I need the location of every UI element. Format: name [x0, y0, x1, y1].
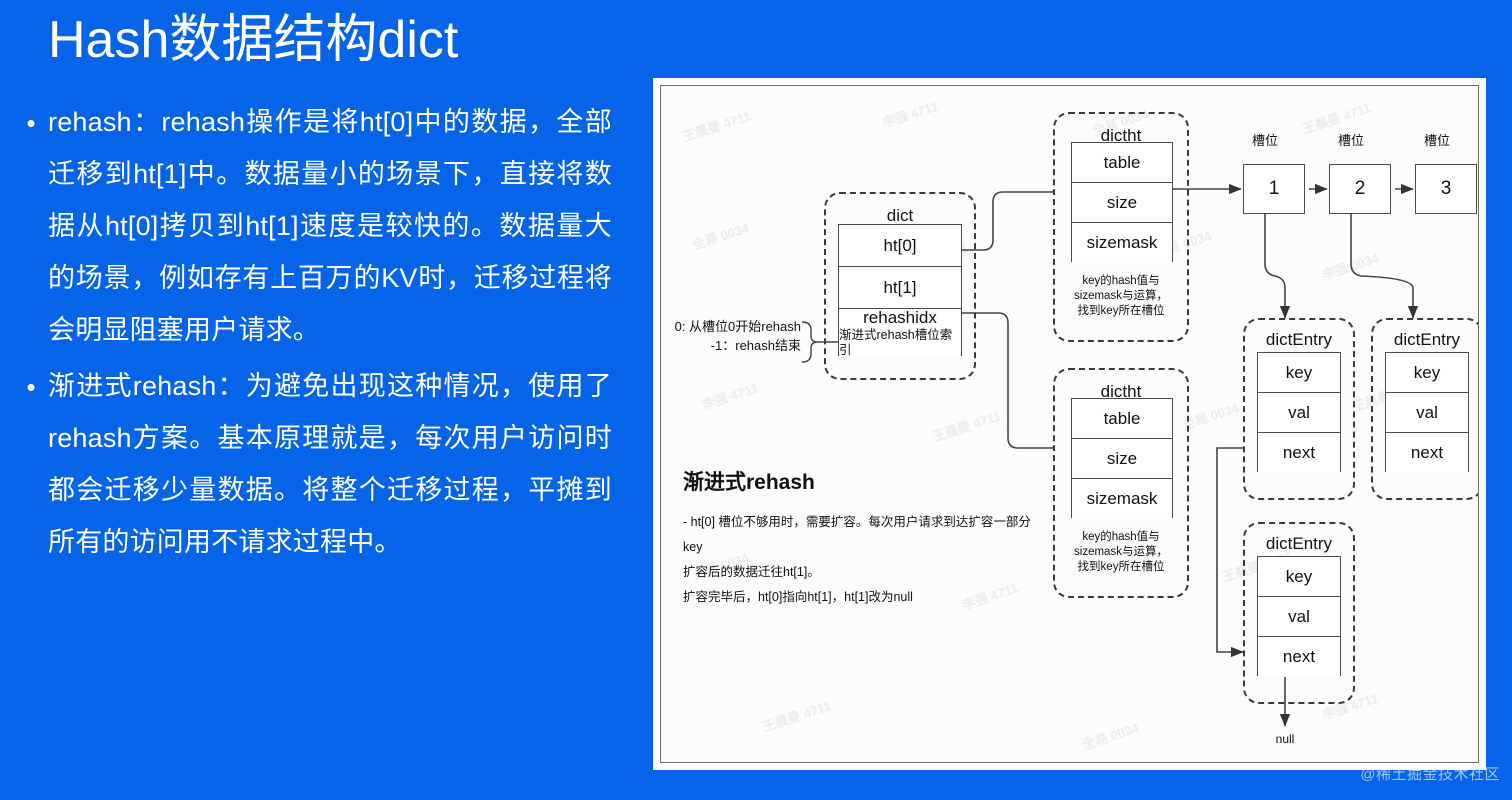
- null-label: null: [1260, 732, 1310, 746]
- dictentry-2-row-val: val: [1386, 393, 1468, 433]
- dictentry-3-row-val: val: [1258, 597, 1340, 637]
- dict-row-ht0-label: ht[0]: [883, 236, 916, 256]
- dictentry-2-row-next: next: [1386, 433, 1468, 473]
- dictentry-2-row-next-label: next: [1411, 443, 1443, 463]
- dictentry-1-row-next: next: [1258, 433, 1340, 473]
- bullet-list: • rehash：rehash操作是将ht[0]中的数据，全部迁移到ht[1]中…: [14, 96, 634, 572]
- dictentry-1-row-val: val: [1258, 393, 1340, 433]
- dictentry-1-row-val-label: val: [1288, 403, 1310, 423]
- slot-label-1: 槽位: [1235, 130, 1295, 149]
- dictht-top-struct: table size sizemask: [1071, 142, 1173, 262]
- rehashidx-annotation-line-1: -1：rehash结束: [661, 337, 801, 356]
- slot-cell-1: 1: [1243, 164, 1305, 214]
- dictentry-2-row-key-label: key: [1414, 363, 1440, 383]
- dictht-bottom-struct: table size sizemask: [1071, 398, 1173, 518]
- dictht-top-row-table-label: table: [1104, 153, 1141, 173]
- dict-struct: ht[0] ht[1] rehashidx 渐进式rehash槽位索引: [838, 224, 962, 356]
- connector-slot1-to-dictentry1: [1265, 214, 1285, 318]
- bullet-item-rehash: • rehash：rehash操作是将ht[0]中的数据，全部迁移到ht[1]中…: [14, 96, 634, 356]
- dictentry-1-title: dictEntry: [1245, 330, 1353, 350]
- dictentry-1-row-key-label: key: [1286, 363, 1312, 383]
- dictht-bottom-row-sizemask: sizemask: [1072, 479, 1172, 519]
- rehash-note-block: 渐进式rehash - ht[0] 槽位不够用时，需要扩容。每次用户请求到达扩容…: [683, 466, 1039, 610]
- slot-cell-2: 2: [1329, 164, 1391, 214]
- dict-row-rehashidx-sub: 渐进式rehash槽位索引: [839, 328, 961, 358]
- dictentry-1-row-next-label: next: [1283, 443, 1315, 463]
- rehash-note-line-1: 扩容后的数据迁往ht[1]。: [683, 560, 1039, 585]
- bullet-marker-icon: •: [14, 360, 48, 413]
- dict-row-rehashidx: rehashidx 渐进式rehash槽位索引: [839, 309, 961, 357]
- diagram-canvas: 王晨曼 4711 李强 4711 全易 0034 王晨曼 4711 全易 003…: [661, 86, 1479, 763]
- dictht-bottom-caption: key的hash值与sizemask与运算，找到key所在槽位: [1055, 530, 1187, 576]
- diagram-frame: 王晨曼 4711 李强 4711 全易 0034 王晨曼 4711 全易 003…: [660, 85, 1479, 763]
- rehashidx-annotation: 0: 从槽位0开始rehash -1：rehash结束: [661, 318, 801, 356]
- dictentry-2-row-key: key: [1386, 353, 1468, 393]
- slot-label-2: 槽位: [1321, 130, 1381, 149]
- rehash-note-line-0: - ht[0] 槽位不够用时，需要扩容。每次用户请求到达扩容一部分key: [683, 510, 1039, 560]
- rehash-note-line-2: 扩容完毕后，ht[0]指向ht[1]，ht[1]改为null: [683, 585, 1039, 610]
- dictentry-1-struct: key val next: [1257, 352, 1341, 472]
- bullet-marker-icon: •: [14, 96, 48, 149]
- dictentry-3-row-next-label: next: [1283, 647, 1315, 667]
- dictentry-2-row-val-label: val: [1416, 403, 1438, 423]
- rehash-note-title: 渐进式rehash: [683, 466, 1039, 496]
- dict-row-rehashidx-label: rehashidx: [863, 308, 937, 328]
- dictht-bottom-row-table-label: table: [1104, 409, 1141, 429]
- slot-cell-3: 3: [1415, 164, 1477, 214]
- dictht-bottom-row-size-label: size: [1107, 449, 1137, 469]
- connector-slot2-to-dictentry2: [1351, 214, 1413, 318]
- dictentry-3-row-val-label: val: [1288, 607, 1310, 627]
- dictht-bottom-row-table: table: [1072, 399, 1172, 439]
- dictht-top-row-size: size: [1072, 183, 1172, 223]
- dictentry-3-row-key: key: [1258, 557, 1340, 597]
- dictht-bottom-row-sizemask-label: sizemask: [1087, 489, 1158, 509]
- dict-row-ht0: ht[0]: [839, 225, 961, 267]
- dictentry-3-row-key-label: key: [1286, 567, 1312, 587]
- dictht-top-row-size-label: size: [1107, 193, 1137, 213]
- slide-text-column: Hash数据结构dict • rehash：rehash操作是将ht[0]中的数…: [0, 0, 648, 800]
- dictentry-2-struct: key val next: [1385, 352, 1469, 472]
- connector-dictentry1-to-dictentry3: [1217, 448, 1243, 652]
- dictht-top-caption: key的hash值与sizemask与运算，找到key所在槽位: [1055, 274, 1187, 320]
- dictentry-3-title: dictEntry: [1245, 534, 1353, 554]
- dictht-top-row-table: table: [1072, 143, 1172, 183]
- dictentry-2-title: dictEntry: [1373, 330, 1479, 350]
- dictentry-3-struct: key val next: [1257, 556, 1341, 676]
- rehashidx-brace-icon: [802, 322, 818, 362]
- bullet-text-rehash: rehash：rehash操作是将ht[0]中的数据，全部迁移到ht[1]中。数…: [48, 96, 634, 356]
- dictht-top-row-sizemask-label: sizemask: [1087, 233, 1158, 253]
- slot-label-3: 槽位: [1407, 130, 1467, 149]
- dictht-bottom-row-size: size: [1072, 439, 1172, 479]
- rehashidx-annotation-line-0: 0: 从槽位0开始rehash: [661, 318, 801, 337]
- diagram-panel: 王晨曼 4711 李强 4711 全易 0034 王晨曼 4711 全易 003…: [653, 78, 1486, 770]
- bullet-text-progressive-rehash: 渐进式rehash：为避免出现这种情况，使用了rehash方案。基本原理就是，每…: [48, 360, 634, 568]
- page-title: Hash数据结构dict: [48, 8, 458, 73]
- dictentry-3-row-next: next: [1258, 637, 1340, 677]
- dictentry-1-row-key: key: [1258, 353, 1340, 393]
- dictht-top-row-sizemask: sizemask: [1072, 223, 1172, 263]
- dict-row-ht1: ht[1]: [839, 267, 961, 309]
- bullet-item-progressive-rehash: • 渐进式rehash：为避免出现这种情况，使用了rehash方案。基本原理就是…: [14, 360, 634, 568]
- dict-row-ht1-label: ht[1]: [883, 278, 916, 298]
- dict-group-title: dict: [826, 206, 974, 226]
